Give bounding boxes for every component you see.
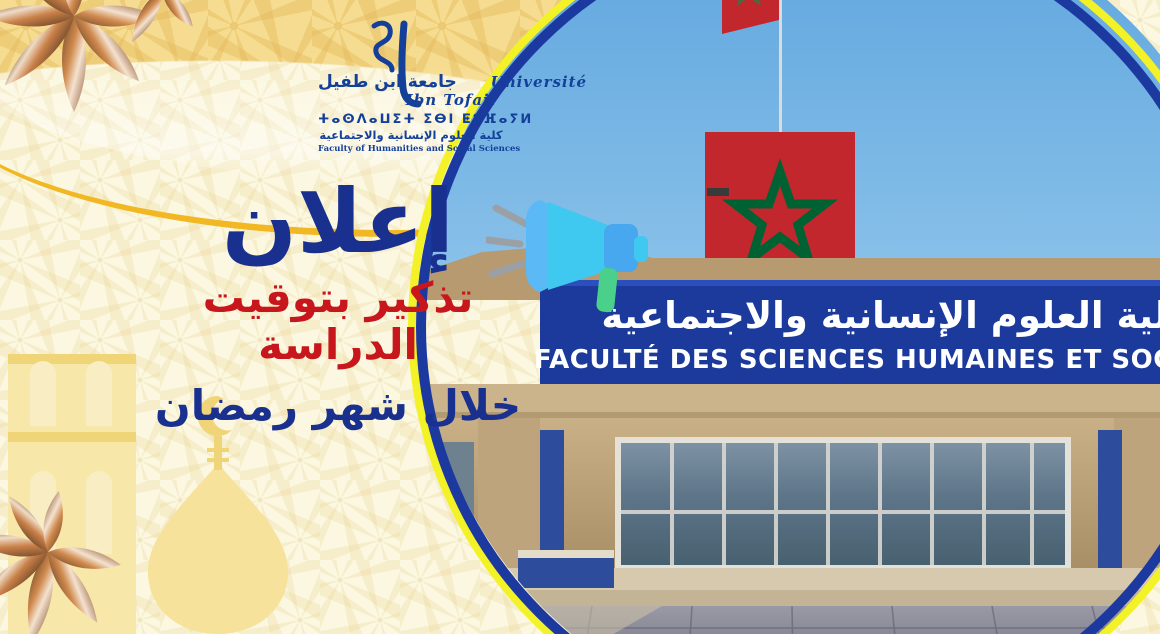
logo-tifinagh: ⵜⴰⵙⴷⴰⵡⵉⵜ ⵉⴱⵏ ⵟⵓⴼⴰⵢⵍ bbox=[318, 113, 504, 126]
headline-block: إعلان تذكير بتوقيت الدراسة خلال شهر رمضا… bbox=[128, 178, 548, 429]
logo-arabic-university: جامعة ابن طفيل bbox=[318, 72, 457, 92]
university-logo: جامعة ابن طفيل Université Ibn Tofail ⵜⴰⵙ… bbox=[318, 18, 504, 166]
announcement-poster: كلية العلوم الإنسانية والاجتماعية FACULT… bbox=[0, 0, 1160, 634]
logo-latin-university-1: Université bbox=[491, 73, 587, 91]
logo-arabic-faculty: كلية العلوم الإنسانية والاجتماعية bbox=[318, 130, 504, 142]
logo-english-faculty: Faculty of Humanities and Social Science… bbox=[318, 145, 504, 154]
logo-latin-university-2: Ibn Tofail bbox=[406, 91, 497, 109]
headline-subtitle: تذكير بتوقيت الدراسة bbox=[128, 274, 548, 368]
svg-text:كلية العلوم الإنسانية والاجتما: كلية العلوم الإنسانية والاجتماعية bbox=[601, 294, 1160, 338]
svg-text:FACULTÉ DES SCIENCES HUMAINES: FACULTÉ DES SCIENCES HUMAINES ET SOCIALE… bbox=[534, 343, 1160, 375]
page-title: إعلان bbox=[128, 178, 548, 266]
headline-subtitle-2: خلال شهر رمضان bbox=[128, 382, 548, 429]
